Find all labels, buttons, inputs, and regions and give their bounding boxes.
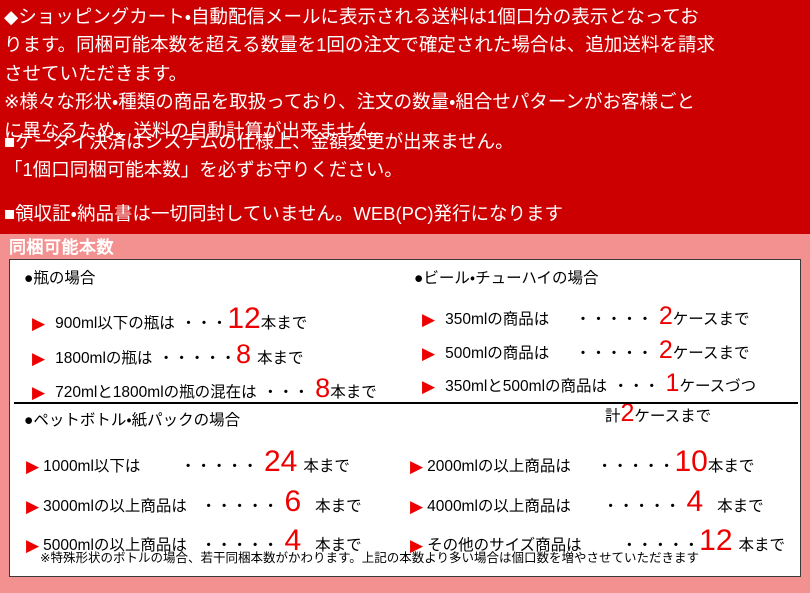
capacity-row: ▶ 350mlの商品は ・・・・・ 2 ケースまで	[422, 304, 749, 329]
row-dots: ・・・・・	[158, 351, 236, 367]
triangle-bullet-icon: ▶	[422, 345, 435, 362]
section-heading-beer: ●ビール・チューハイの場合	[414, 270, 599, 288]
notice-mobile-payment: ■ケータイ決済はシステムの仕様上、金額変更が出来ません。 「1個口同梱可能本数」…	[4, 128, 806, 185]
panel-title: 同梱可能本数	[9, 236, 801, 259]
row-number: 12	[699, 526, 732, 556]
row-unit: ケースまで	[673, 346, 750, 362]
row-number: 6	[284, 487, 301, 517]
notice-line: させていただきます。	[4, 60, 806, 88]
capacity-row: ▶ 720mlと1800mlの瓶の混在は ・・・ 8 本まで	[32, 375, 377, 402]
notice-line: ります。同梱可能本数を超える数量を1回の注文で確定された場合は、追加送料を請求	[4, 31, 806, 59]
row-number: 2	[659, 304, 673, 329]
beer-total-row: 計 2 ケースまで	[605, 401, 711, 426]
notice-shipping-fee: ◆ショッピングカート・自動配信メールに表示される送料は1個口分の表示となってお …	[4, 3, 806, 145]
triangle-bullet-icon: ▶	[32, 350, 45, 367]
row-dots: ・・・・・	[201, 499, 279, 515]
triangle-bullet-icon: ▶	[32, 315, 45, 332]
total-prefix: 計	[605, 409, 621, 425]
row-label: 350mlの商品は	[445, 312, 549, 328]
row-dots: ・・・	[263, 385, 310, 401]
row-unit: 本まで	[315, 499, 362, 515]
row-label: 3000mlの以上商品は	[43, 499, 187, 515]
row-dots: ・・・	[613, 379, 660, 395]
row-unit: 本まで	[330, 385, 377, 401]
section-heading-pet: ●ペットボトル・紙パックの場合	[24, 412, 240, 430]
notice-line: ■領収証・納品書は一切同封していません。WEB(PC)発行になります	[4, 200, 806, 228]
row-unit: ケースづつ	[679, 379, 756, 395]
row-unit: 本まで	[257, 351, 304, 367]
packing-capacity-panel: 同梱可能本数 ●瓶の場合 ▶ 900ml以下の瓶は ・・・ 12 本まで ▶ 1…	[0, 234, 810, 593]
notice-line: ◆ショッピングカート・自動配信メールに表示される送料は1個口分の表示となってお	[4, 3, 806, 31]
row-label: 350mlと500mlの商品は	[445, 379, 607, 395]
section-heading-bottles: ●瓶の場合	[24, 270, 95, 288]
row-dots: ・・・・・	[575, 312, 653, 328]
notice-line: ※様々な形状・種類の商品を取扱っており、注文の数量・組合せパターンがお客様ごと	[4, 88, 806, 116]
row-unit: 本まで	[739, 538, 786, 554]
row-dots: ・・・	[181, 316, 228, 332]
row-label: 900ml以下の瓶は	[55, 316, 175, 332]
row-dots: ・・・・・	[180, 459, 258, 475]
row-label: 1800mlの瓶は	[55, 351, 152, 367]
row-number: 4	[686, 487, 703, 517]
notice-line: ■ケータイ決済はシステムの仕様上、金額変更が出来ません。	[4, 128, 806, 156]
row-label: 2000mlの以上商品は	[427, 459, 571, 475]
triangle-bullet-icon: ▶	[26, 458, 39, 475]
row-label: 4000mlの以上商品は	[427, 499, 571, 515]
triangle-bullet-icon: ▶	[410, 498, 423, 515]
triangle-bullet-icon: ▶	[26, 537, 39, 554]
notice-receipt-invoice: ■領収証・納品書は一切同封していません。WEB(PC)発行になります	[4, 200, 806, 228]
row-unit: 本まで	[708, 459, 755, 475]
row-number: 1	[666, 371, 680, 396]
capacity-row: ▶ 1800mlの瓶は ・・・・・ 8 本まで	[32, 341, 303, 368]
capacity-row: ▶ 350mlと500mlの商品は ・・・ 1 ケースづつ	[422, 371, 756, 396]
capacity-row: ▶ 4000mlの以上商品は ・・・・・ 4 本まで	[410, 487, 764, 517]
row-label: 1000ml以下は	[43, 459, 140, 475]
row-dots: ・・・・・	[603, 499, 681, 515]
row-label: 500mlの商品は	[445, 346, 549, 362]
capacity-row: ▶ 500mlの商品は ・・・・・ 2 ケースまで	[422, 338, 749, 363]
row-unit: ケースまで	[673, 312, 750, 328]
total-unit: ケースまで	[634, 409, 711, 425]
page-root: ◆ショッピングカート・自動配信メールに表示される送料は1個口分の表示となってお …	[0, 0, 810, 593]
row-number: 2	[659, 338, 673, 363]
section-divider	[14, 402, 798, 404]
row-number: 10	[674, 447, 707, 477]
row-number: 12	[227, 304, 260, 334]
row-dots: ・・・・・	[597, 459, 675, 475]
row-number: 24	[264, 447, 297, 477]
panel-body: ●瓶の場合 ▶ 900ml以下の瓶は ・・・ 12 本まで ▶ 1800mlの瓶…	[9, 259, 801, 577]
triangle-bullet-icon: ▶	[32, 384, 45, 401]
row-number: 8	[315, 375, 330, 402]
capacity-row: ▶ 900ml以下の瓶は ・・・ 12 本まで	[32, 304, 307, 334]
triangle-bullet-icon: ▶	[422, 311, 435, 328]
triangle-bullet-icon: ▶	[410, 458, 423, 475]
triangle-bullet-icon: ▶	[26, 498, 39, 515]
row-number: 8	[236, 341, 251, 368]
row-dots: ・・・・・	[575, 346, 653, 362]
panel-footnote: ※特殊形状のボトルの場合、若干同梱本数がかわります。上記の本数より多い場合は個口…	[40, 550, 699, 566]
triangle-bullet-icon: ▶	[422, 378, 435, 395]
row-unit: 本まで	[261, 316, 308, 332]
row-unit: 本まで	[717, 499, 764, 515]
capacity-row: ▶ 1000ml以下は ・・・・・ 24 本まで	[26, 447, 350, 477]
row-unit: 本まで	[303, 459, 350, 475]
capacity-row: ▶ 3000mlの以上商品は ・・・・・ 6 本まで	[26, 487, 362, 517]
notice-line: 「1個口同梱可能本数」を必ずお守りください。	[4, 156, 806, 184]
row-label: 720mlと1800mlの瓶の混在は	[55, 385, 257, 401]
total-number: 2	[621, 401, 635, 426]
capacity-row: ▶ 2000mlの以上商品は ・・・・・ 10 本まで	[410, 447, 754, 477]
